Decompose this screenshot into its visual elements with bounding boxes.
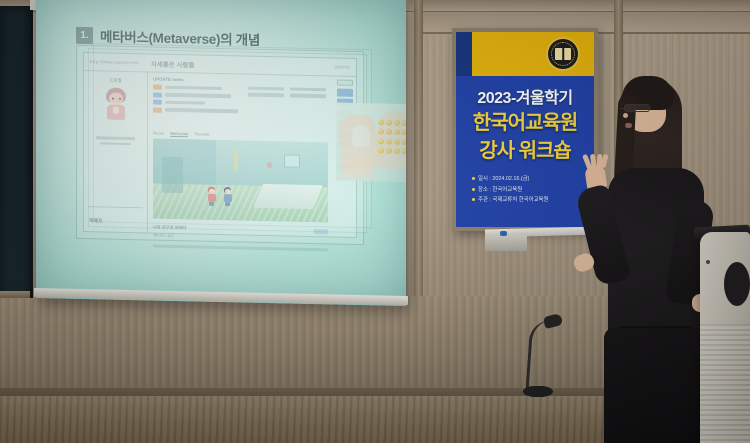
- chat-text: [165, 100, 205, 104]
- poster-semester-line: 2023-겨울학기: [456, 84, 594, 108]
- avatar-stats: [88, 136, 143, 145]
- chat-row: [153, 107, 245, 114]
- chat-text: [165, 93, 231, 98]
- poster-details: 일시 : 2024.02.16.(금) 장소 : 한국어교육원 주관 : 국제교…: [472, 174, 586, 206]
- room-picture-frame: [284, 154, 300, 167]
- chat-badge: [153, 92, 162, 97]
- stat-cell: [248, 87, 284, 91]
- poster-institute-line: 한국어교육원: [456, 106, 594, 135]
- isometric-room-scene: [153, 139, 328, 223]
- tab-welcome[interactable]: Welcome: [170, 131, 188, 137]
- room-plant: [267, 162, 272, 168]
- slide-number-badge: 1.: [76, 26, 93, 43]
- left-divider: [88, 206, 143, 208]
- workshop-poster: 2023-겨울학기 한국어교육원 강사 워크숍 일시 : 2024.02.16.…: [456, 32, 594, 227]
- avatar-chest: [113, 107, 119, 114]
- coin-cluster: [378, 119, 406, 156]
- poster-event-line: 강사 워크숍: [456, 134, 594, 163]
- chat-badge: [153, 107, 162, 112]
- lectern: [700, 232, 750, 443]
- screenshot-stage: 1. 메타버스(Metaverse)의 개념 http://www.zepeto…: [0, 0, 750, 443]
- stat-cell: [290, 88, 326, 92]
- poster-header-navy-block: [456, 32, 472, 76]
- room-lamp: [234, 150, 238, 171]
- tab-room[interactable]: Room: [153, 131, 164, 137]
- presenter-nose: [623, 113, 628, 118]
- panel-tabs[interactable]: Room Welcome Favorite: [153, 131, 210, 138]
- panel-heading: UPDATE news: [153, 77, 329, 86]
- avatar-eye-left: [112, 98, 114, 100]
- emblem-book-icon: [555, 48, 571, 60]
- slide-screenshot-body: http://www.zepeto.me/... 자세룡은 사람들 ZEPETO…: [76, 45, 364, 245]
- app-main-panel: UPDATE news: [148, 72, 334, 236]
- metaverse-app-window: http://www.zepeto.me/... 자세룡은 사람들 ZEPETO…: [83, 52, 357, 238]
- chat-row: [153, 100, 245, 107]
- coins-photo: [336, 103, 406, 183]
- left-footer-label: 제페토: [89, 217, 103, 224]
- chat-row: [153, 92, 245, 99]
- room-bed: [253, 184, 322, 209]
- room-avatar-one: [207, 186, 216, 205]
- stats-grid: [248, 87, 326, 98]
- university-emblem-icon: [546, 37, 580, 71]
- microphone-base: [523, 386, 553, 397]
- app-left-column: 프로필: [84, 71, 148, 232]
- presenter-mouth: [625, 123, 632, 128]
- room-door: [162, 156, 183, 193]
- chat-text: [165, 108, 238, 113]
- room-caption-button[interactable]: [314, 229, 328, 234]
- shelf-knob: [500, 231, 507, 236]
- eyeglasses-icon: [624, 104, 650, 112]
- poster-detail-host: 주관 : 국제교류처 한국어교육원: [472, 195, 586, 206]
- avatar-eye-right: [119, 98, 121, 100]
- poster-detail-date: 일시 : 2024.02.16.(금): [472, 174, 586, 185]
- stat-line: [100, 142, 130, 145]
- chat-badge: [153, 85, 162, 90]
- lectern-ribs: [700, 324, 750, 443]
- right-rail-header: [337, 80, 353, 86]
- slide: 1. 메타버스(Metaverse)의 개념 http://www.zepeto…: [36, 0, 406, 306]
- lectern-knob: [706, 260, 710, 264]
- wall-seam-left: [414, 0, 423, 300]
- presenter-skirt: [604, 328, 710, 443]
- chalk-tray: [0, 291, 30, 298]
- sprout-graphic: [352, 125, 370, 147]
- wall-shelf-device: [485, 235, 527, 251]
- chat-text: [165, 85, 222, 90]
- stat-cell: [248, 93, 284, 97]
- profile-label: 프로필: [88, 77, 143, 84]
- poster-detail-place: 장소 : 한국어교육원: [472, 185, 586, 196]
- right-rail-item[interactable]: [337, 88, 353, 96]
- app-topbar-right: ZEPETO: [334, 64, 350, 69]
- blackboard: [0, 6, 33, 298]
- tab-favorite[interactable]: Favorite: [194, 131, 209, 137]
- chat-badge: [153, 100, 162, 105]
- room-subline: [153, 245, 328, 251]
- stat-line: [96, 136, 135, 139]
- poster-frame: 2023-겨울학기 한국어교육원 강사 워크숍 일시 : 2024.02.16.…: [452, 28, 598, 231]
- room-caption-text: 나와 친구의 아바타: [153, 225, 186, 232]
- projection-screen[interactable]: 1. 메타버스(Metaverse)의 개념 http://www.zepeto…: [36, 0, 406, 306]
- avatar: [101, 86, 131, 121]
- app-tab-title: 자세룡은 사람들: [151, 58, 195, 69]
- stat-cell: [290, 94, 326, 98]
- room-avatar-two: [223, 187, 232, 206]
- lectern-oval-cutout: [724, 262, 750, 306]
- chat-row: [153, 85, 245, 92]
- screen-surface: 1. 메타버스(Metaverse)의 개념 http://www.zepeto…: [36, 0, 406, 306]
- chat-list: [153, 85, 245, 114]
- address-bar: http://www.zepeto.me/...: [90, 59, 143, 65]
